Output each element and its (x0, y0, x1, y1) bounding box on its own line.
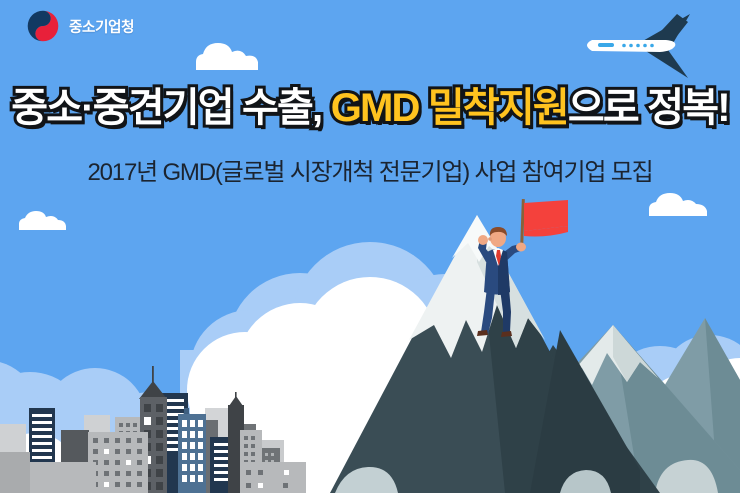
headline-highlight: GMD 밀착지원 (331, 86, 568, 130)
export-promotion-banner: 중소기업청 중소·중견기업 수출, GMD 밀착지원으로 정복! 2017년 G… (0, 0, 740, 493)
illustration-canvas (0, 0, 740, 493)
agency-logo: 중소기업청 (26, 8, 134, 44)
headline-container: 중소·중견기업 수출, GMD 밀착지원으로 정복! (0, 88, 740, 128)
building-gray-dotted-large (88, 432, 148, 493)
agency-name-label: 중소기업청 (69, 16, 134, 37)
taegeuk-logo-icon (26, 9, 60, 43)
headline-part1: 중소·중견기업 수출, (11, 86, 330, 130)
headline-part2: 으로 정복! (568, 86, 729, 130)
page-title: 중소·중견기업 수출, GMD 밀착지원으로 정복! (11, 88, 729, 128)
building-blue-skyscraper (178, 408, 206, 493)
page-subtitle: 2017년 GMD(글로벌 시장개척 전문기업) 사업 참여기업 모집 (0, 152, 740, 187)
